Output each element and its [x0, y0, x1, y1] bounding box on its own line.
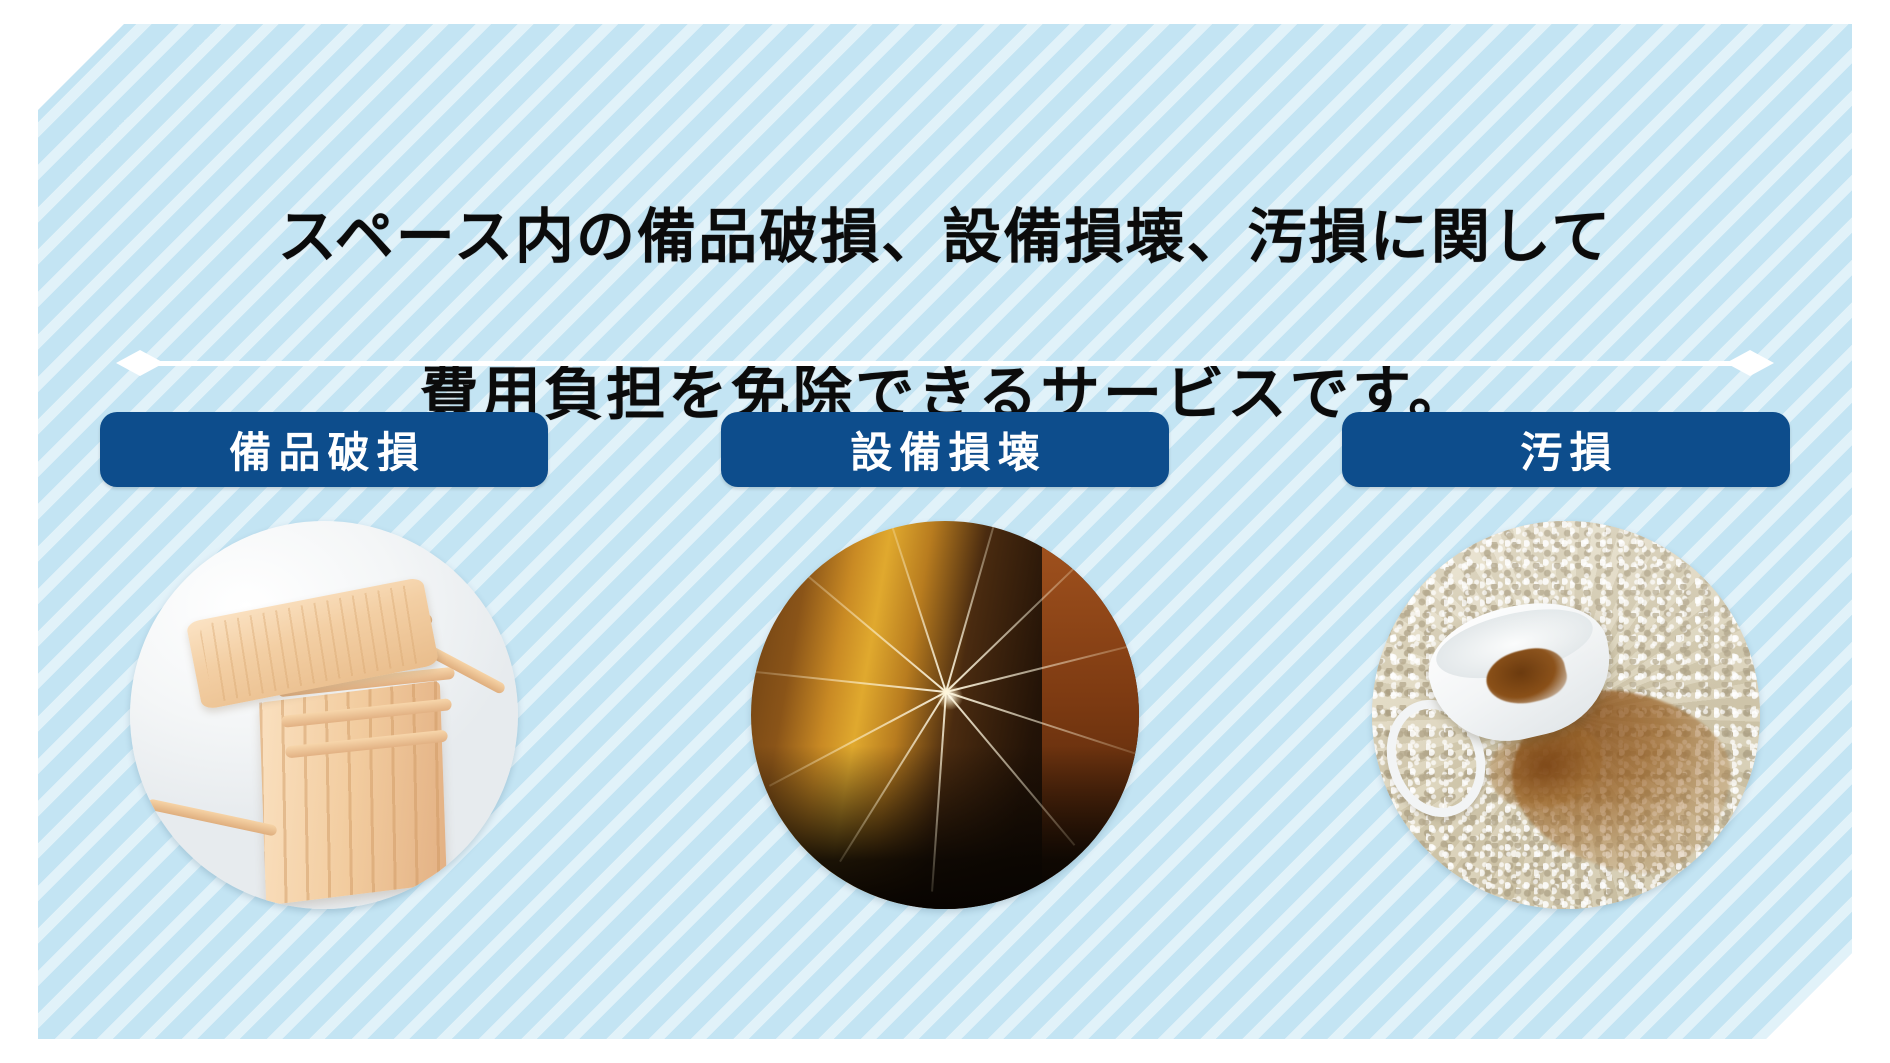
cracked-glass-door-photo	[751, 521, 1139, 909]
category-column-facility-damage: 設備損壊	[721, 412, 1169, 909]
badge-staining[interactable]: 汚損	[1342, 412, 1790, 487]
badge-equipment-damage[interactable]: 備品破損	[100, 412, 548, 487]
divider-line	[142, 361, 1748, 366]
diamond-right-icon	[1726, 350, 1774, 376]
broken-wooden-chair-photo	[130, 521, 518, 909]
divider	[116, 350, 1774, 376]
badge-facility-damage[interactable]: 設備損壊	[721, 412, 1169, 487]
category-columns: 備品破損 設備損壊	[100, 412, 1790, 909]
category-column-staining: 汚損	[1342, 412, 1790, 909]
category-column-equipment-damage: 備品破損	[100, 412, 548, 909]
coffee-spill-on-carpet-photo	[1372, 521, 1760, 909]
info-panel: スペース内の備品破損、設備損壊、汚損に関して 費用負担を免除できるサービスです。…	[38, 24, 1852, 1039]
page-title-line-1: スペース内の備品破損、設備損壊、汚損に関して	[38, 198, 1852, 276]
